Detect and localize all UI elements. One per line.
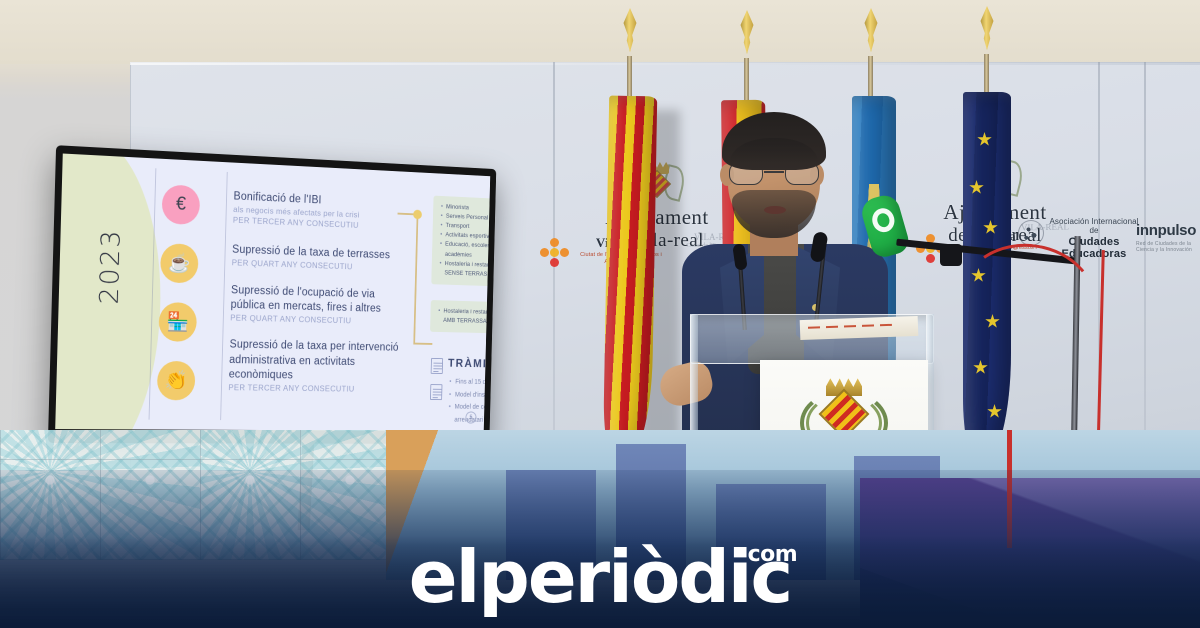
logo-innpulso-title: innpulso <box>1136 222 1200 239</box>
euro-icon: € <box>162 184 201 225</box>
slide-connector-bracket <box>405 206 433 347</box>
ceiling-strip <box>0 0 1200 64</box>
globe-icon <box>1018 220 1044 246</box>
slide-item-1: Bonificació de l'IBI als negocis més afe… <box>233 190 406 233</box>
slide-text-column: Bonificació de l'IBI als negocis més afe… <box>228 190 406 409</box>
mic-clamp <box>940 244 962 266</box>
bottom-gradient-fade <box>0 536 1200 628</box>
slide-year-label: 2023 <box>94 206 127 326</box>
slide-item-3: Supressió de l'ocupació de via pública e… <box>230 284 403 328</box>
presentation-screen: 2023 € ☕ 🏪 👏 Bonificació de l'IBI als ne… <box>48 145 496 444</box>
slide-tramits-section: TRÀMITS Fins al 15 de març Model d'instà… <box>428 356 491 427</box>
slide-item-2: Supressió de la taxa de terrasses PER QU… <box>232 243 405 274</box>
slide-card-95: Minorista Serveis Personal Transport Act… <box>431 196 490 287</box>
lectern-papers <box>800 316 919 340</box>
slide-item-4: Supressió de la taxa per intervenció adm… <box>228 338 402 395</box>
logo-ce-pre: Asociación Internacional de <box>1048 218 1140 236</box>
market-stall-icon: 🏪 <box>158 302 197 342</box>
slide-card-50: Hostaleria i restauració AMB TERRASSA <box>430 300 490 334</box>
slide-item-3-title: Supressió de l'ocupació de via pública e… <box>230 284 403 318</box>
calendar-icon <box>431 358 443 374</box>
card95-bullet-6: Hostaleria i restauració SENSE TERRASSA <box>439 259 490 280</box>
coffee-cup-icon: ☕ <box>160 243 199 283</box>
logo-ce-title: Ciudades <box>1048 236 1140 248</box>
speaker-hair <box>722 112 826 170</box>
hand-coin-icon: 👏 <box>157 361 196 401</box>
tramits-item-2: Model d'instància <box>449 389 490 402</box>
tramits-item-1: Fins al 15 de març <box>449 376 490 390</box>
slide-icon-column: € ☕ 🏪 👏 <box>156 184 222 420</box>
slide-item-4-title: Supressió de la taxa per intervenció adm… <box>229 338 402 384</box>
flower-mark-icon <box>540 238 570 268</box>
speaker-beard <box>732 190 816 238</box>
slide-item-4-note: PER TERCER ANY CONSECUTIU <box>228 382 401 395</box>
apunt-logo-icon <box>869 206 897 235</box>
logo-innpulso-sub: Red de Ciudades de la Ciencia y la Innov… <box>1136 241 1200 253</box>
slide: 2023 € ☕ 🏪 👏 Bonificació de l'IBI als ne… <box>55 154 490 431</box>
screenshot-root: Ajuntament de Vila-real Ajuntament de Vi… <box>0 0 1200 628</box>
card50-bullet-1: Hostaleria i restauració AMB TERRASSA <box>438 307 490 328</box>
form-document-icon <box>430 384 442 400</box>
logo-innpulso: innpulso Red de Ciudades de la Ciencia y… <box>1136 222 1200 253</box>
speaker-mouth <box>764 206 786 214</box>
tramits-heading: TRÀMITS <box>448 356 490 370</box>
